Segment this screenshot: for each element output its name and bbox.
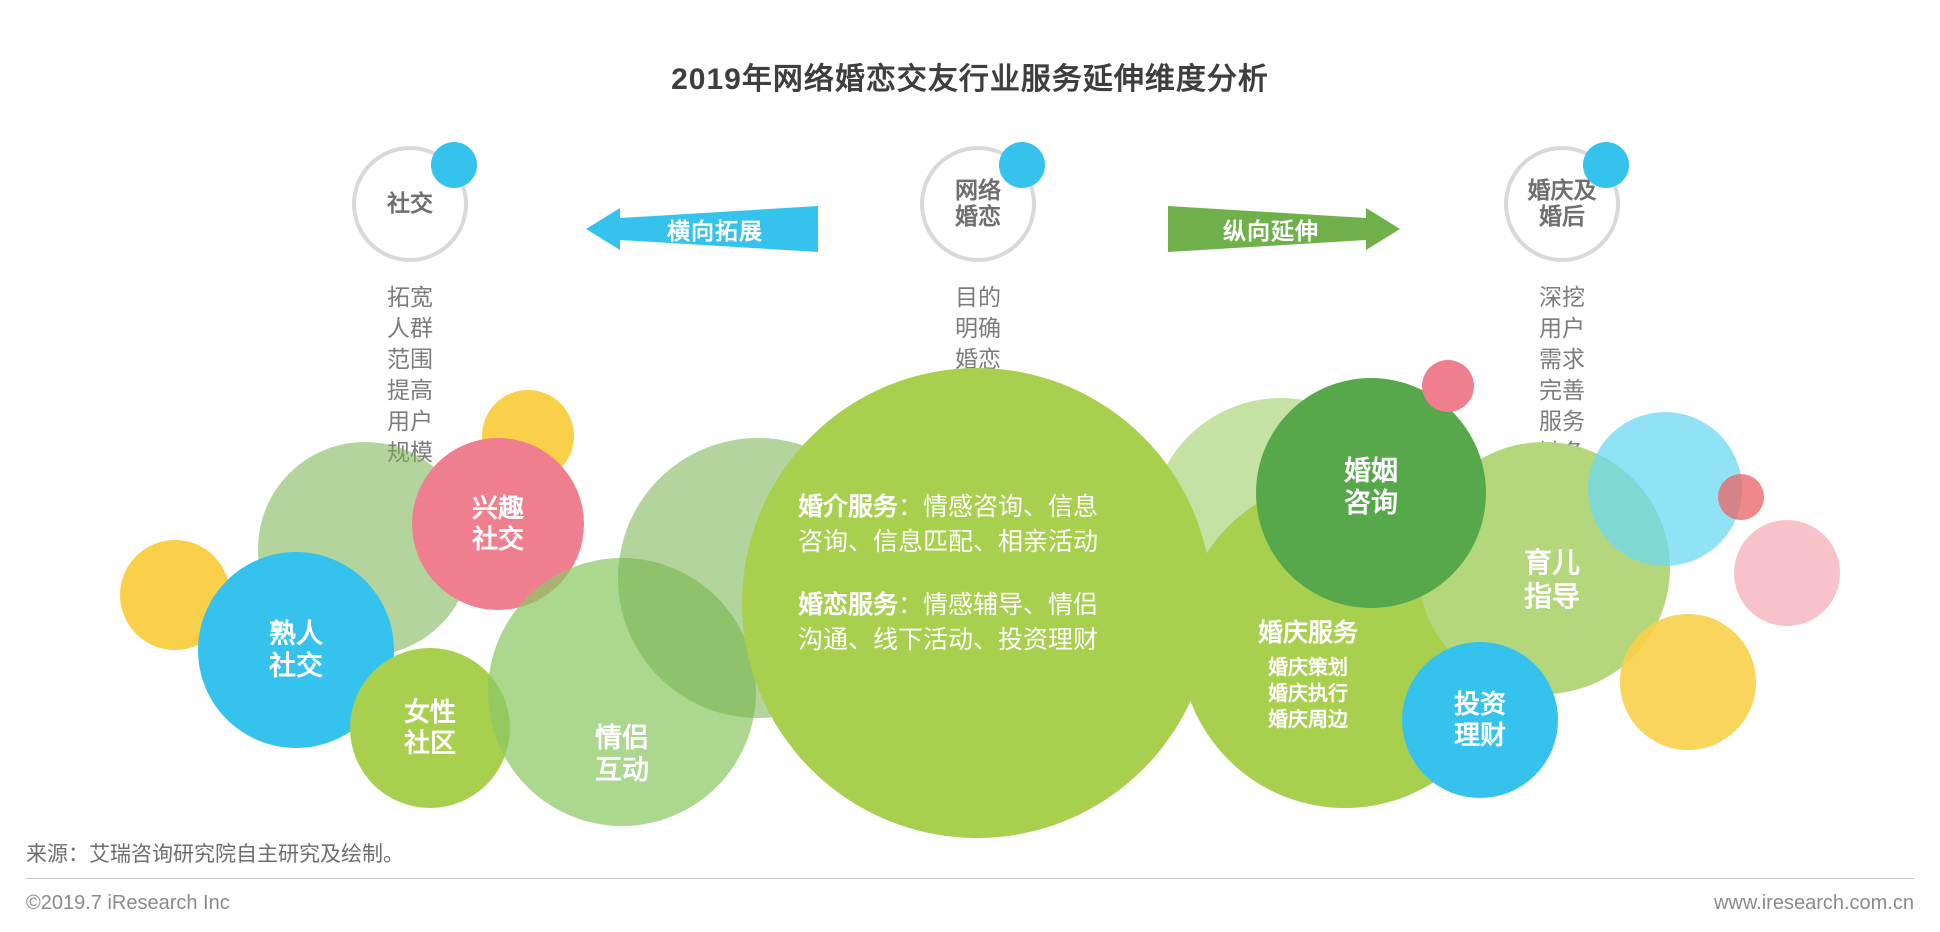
core-services-line-4: 沟通、线下活动、投资理财 [798,623,1190,658]
bubble-interest-social-label: 兴趣 社交 [472,493,524,555]
arrow-horizontal-expansion-label: 横向拓展 [586,206,818,252]
page-title: 2019年网络婚恋交友行业服务延伸维度分析 [0,54,1940,98]
stage-social: 社交 拓宽人群范围 提高用户规模 [352,146,468,262]
website-link[interactable]: www.iresearch.com.cn [1714,892,1914,915]
bubble-marriage-counseling-label: 婚姻 咨询 [1344,455,1398,520]
bubble-decor-pink-right [1734,520,1840,626]
stage-wedding-and-after-caption: 深挖用户需求 完善服务链条 [1533,282,1591,468]
stage-social-dot-icon [431,142,477,188]
bubble-decor-red-right [1718,474,1764,520]
bubble-parenting-guidance-label: 育儿 指导 [1524,546,1580,613]
stage-wedding-and-after: 婚庆及 婚后 深挖用户需求 完善服务链条 [1504,146,1620,262]
source-note: 来源：艾瑞咨询研究院自主研究及绘制。 [26,838,404,868]
core-services-line-1: 婚介服务：情感咨询、信息 [798,490,1190,525]
footer-divider [26,878,1914,879]
arrow-vertical-extension: 纵向延伸 [1168,206,1400,252]
bubble-investment-label: 投资 理财 [1454,689,1506,751]
infographic-canvas: 2019年网络婚恋交友行业服务延伸维度分析 社交 拓宽人群范围 提高用户规模 网… [0,0,1940,932]
arrow-horizontal-expansion: 横向拓展 [586,206,818,252]
copyright-text: ©2019.7 iResearch Inc [26,892,230,915]
core-services-line-3: 婚恋服务：情感辅导、情侣 [798,588,1190,623]
stage-wedding-and-after-label: 婚庆及 婚后 [1528,178,1597,230]
arrow-vertical-extension-label: 纵向延伸 [1168,206,1400,252]
core-services-text: 婚介服务：情感咨询、信息 咨询、信息匹配、相亲活动 婚恋服务：情感辅导、情侣 沟… [798,490,1190,658]
stage-social-label: 社交 [387,191,433,217]
stage-wedding-and-after-dot-icon [1583,142,1629,188]
core-services-line-2: 咨询、信息匹配、相亲活动 [798,525,1190,560]
bubble-marriage-counseling: 婚姻 咨询 [1256,378,1486,608]
stage-online-matchmaking-dot-icon [999,142,1045,188]
bubble-decor-red-top [1422,360,1474,412]
wedding-services-text: 婚庆服务 婚庆策划 婚庆执行 婚庆周边 [1192,618,1424,733]
wedding-services-items: 婚庆策划 婚庆执行 婚庆周边 [1192,655,1424,733]
stage-social-caption: 拓宽人群范围 提高用户规模 [381,282,439,468]
stage-online-matchmaking-label: 网络 婚恋 [955,178,1001,230]
bubble-female-community-label: 女性 社区 [404,697,456,759]
bubble-female-community: 女性 社区 [350,648,510,808]
bubble-acquaintance-social-label: 熟人 社交 [269,618,323,683]
stage-online-matchmaking: 网络 婚恋 目的明确 婚恋交友效率高 [920,146,1036,262]
bubble-decor-yellow-right [1620,614,1756,750]
bubble-couple-interaction-label: 情侣 互动 [595,722,649,787]
wedding-services-heading: 婚庆服务 [1192,618,1424,649]
bubble-investment: 投资 理财 [1402,642,1558,798]
